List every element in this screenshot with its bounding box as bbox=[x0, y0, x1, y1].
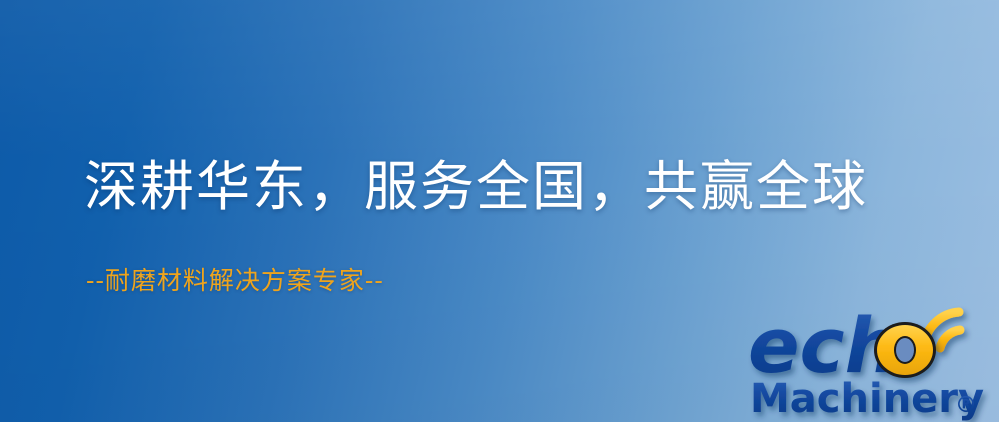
banner-subtitle: --耐磨材料解决方案专家-- bbox=[86, 266, 384, 296]
logo-tagline: Machinery bbox=[750, 376, 984, 422]
logo-letter-o bbox=[874, 322, 936, 378]
banner-headline: 深耕华东，服务全国，共赢全球 bbox=[84, 156, 868, 218]
logo-registered-mark: ® bbox=[955, 393, 977, 418]
echo-machinery-logo[interactable]: ech Machinery ® bbox=[748, 300, 999, 422]
promo-banner: 深耕华东，服务全国，共赢全球 --耐磨材料解决方案专家-- bbox=[0, 0, 999, 422]
